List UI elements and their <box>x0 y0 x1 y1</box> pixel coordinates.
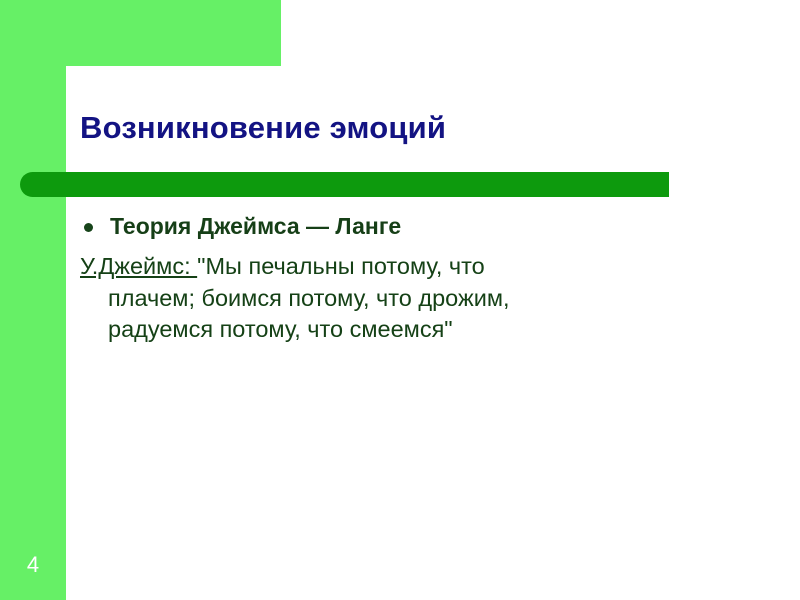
list-item: Теория Джеймса — Ланге <box>78 212 738 241</box>
quote-paragraph: У.Джеймс: "Мы печальны потому, что плаче… <box>78 251 640 345</box>
quote-line-2: плачем; боимся потому, что дрожим, <box>80 283 640 314</box>
slide-title-container: Возникновение эмоций <box>80 104 720 152</box>
quote-attribution: У.Джеймс: <box>80 253 197 279</box>
title-underline-bar <box>20 172 669 197</box>
page-title: Возникновение эмоций <box>80 112 446 145</box>
page-number-value: 4 <box>27 552 39 578</box>
slide-body: Теория Джеймса — Ланге У.Джеймс: "Мы печ… <box>78 212 738 345</box>
quote-line-3: радуемся потому, что смеемся" <box>80 314 640 345</box>
decorative-green-top-block <box>0 0 281 66</box>
bullet-item-label: Теория Джеймса — Ланге <box>110 212 401 241</box>
page-number: 4 <box>0 545 66 585</box>
decorative-green-left-strip <box>0 0 66 600</box>
quote-line-1: "Мы печальны потому, что <box>197 253 485 279</box>
slide-canvas: Возникновение эмоций Теория Джеймса — Ла… <box>0 0 800 600</box>
bullet-dot-icon <box>84 223 93 232</box>
